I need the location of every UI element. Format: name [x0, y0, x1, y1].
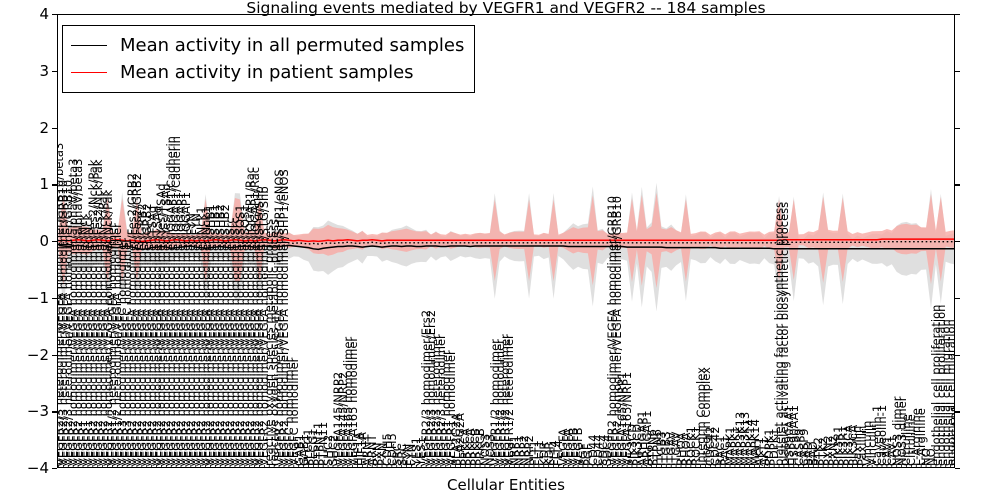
y-tick-mark — [955, 468, 960, 469]
figure-canvas: Signaling events mediated by VEGFR1 and … — [0, 0, 1000, 500]
y-tick-label: 4 — [39, 5, 49, 23]
y-tick-mark — [955, 14, 960, 15]
legend-entry-permuted: Mean activity in all permuted samples — [71, 32, 464, 59]
y-tick-label: 1 — [39, 175, 49, 193]
y-tick-mark — [955, 241, 960, 242]
legend-swatch-permuted — [71, 45, 107, 46]
y-tick-label: −2 — [27, 346, 49, 364]
y-tick-mark — [955, 71, 960, 72]
legend-entry-patient: Mean activity in patient samples — [71, 59, 464, 86]
y-tick-label: 0 — [39, 232, 49, 250]
y-tick-mark — [955, 184, 960, 185]
y-tick-mark — [955, 411, 960, 412]
y-tick-label: −1 — [27, 289, 49, 307]
y-tick-label: −4 — [27, 459, 49, 477]
y-tick-mark — [955, 128, 960, 129]
legend-label-patient: Mean activity in patient samples — [120, 62, 414, 83]
y-tick-label: 3 — [39, 62, 49, 80]
legend-label-permuted: Mean activity in all permuted samples — [120, 35, 464, 56]
y-tick-mark — [955, 298, 960, 299]
chart-legend: Mean activity in all permuted samples Me… — [62, 25, 475, 93]
y-tick-mark — [52, 468, 57, 469]
x-axis-label: Cellular Entities — [57, 476, 955, 494]
y-tick-label: 2 — [39, 119, 49, 137]
legend-swatch-patient — [71, 72, 107, 73]
y-tick-label: −3 — [27, 402, 49, 420]
y-tick-mark — [955, 355, 960, 356]
